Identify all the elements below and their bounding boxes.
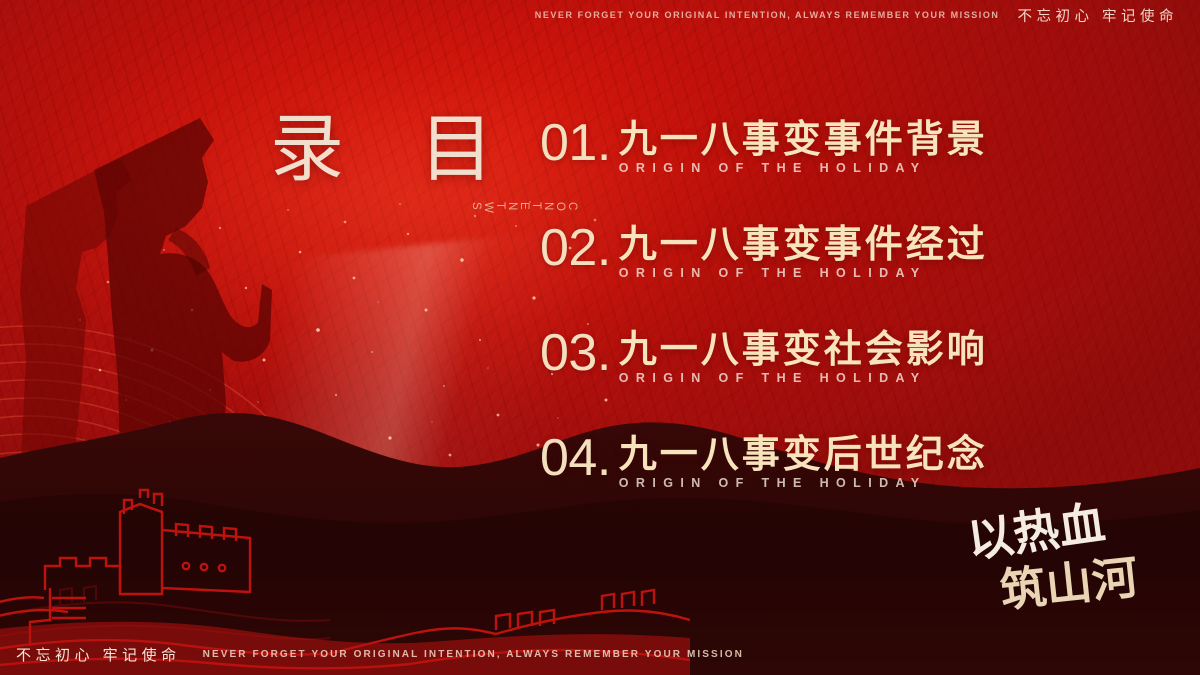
particle-spray-decoration [60, 190, 620, 520]
top-slogan-en: NEVER FORGET YOUR ORIGINAL INTENTION, AL… [535, 10, 1000, 20]
menu-item-label-cn: 九一八事变后世纪念 [619, 432, 988, 476]
menu-item-03[interactable]: 03. 九一八事变社会影响 ORIGIN OF THE HOLIDAY [540, 328, 1140, 433]
menu-item-label-cn: 九一八事变社会影响 [619, 327, 988, 371]
menu-item-number: 04. [540, 433, 611, 484]
menu-item-text: 九一八事变事件经过 ORIGIN OF THE HOLIDAY [619, 223, 988, 282]
menu-item-02[interactable]: 02. 九一八事变事件经过 ORIGIN OF THE HOLIDAY [540, 223, 1140, 328]
menu-item-label-en: ORIGIN OF THE HOLIDAY [619, 476, 927, 490]
menu-item-text: 九一八事变事件背景 ORIGIN OF THE HOLIDAY [619, 118, 988, 177]
calligraphy-seal: 以热血 筑山河 以热血筑山河 [962, 495, 1192, 620]
menu-item-label-cn: 九一八事变事件背景 [619, 117, 988, 161]
menu-item-number: 01. [540, 118, 611, 169]
menu-item-01[interactable]: 01. 九一八事变事件背景 ORIGIN OF THE HOLIDAY [540, 118, 1140, 223]
menu-item-number: 03. [540, 328, 611, 379]
page-title-cn: 录 目 [270, 112, 520, 186]
menu-item-text: 九一八事变社会影响 ORIGIN OF THE HOLIDAY [619, 328, 988, 387]
menu-item-label-cn: 九一八事变事件经过 [619, 222, 988, 266]
menu-item-label-en: ORIGIN OF THE HOLIDAY [619, 161, 927, 175]
top-slogan-cn: 不忘初心 牢记使命 [1017, 5, 1178, 26]
page-title: 录 目 C O N T E N T W S [270, 112, 520, 186]
slide-canvas: NEVER FORGET YOUR ORIGINAL INTENTION, AL… [0, 0, 1200, 675]
contents-menu: 01. 九一八事变事件背景 ORIGIN OF THE HOLIDAY 02. … [540, 118, 1140, 538]
menu-item-number: 02. [540, 223, 611, 274]
menu-item-label-en: ORIGIN OF THE HOLIDAY [619, 371, 927, 385]
footer-slogan-cn: 不忘初心 牢记使命 [16, 644, 181, 665]
footer-slogan-en: NEVER FORGET YOUR ORIGINAL INTENTION, AL… [203, 649, 744, 660]
menu-item-text: 九一八事变后世纪念 ORIGIN OF THE HOLIDAY [619, 433, 988, 492]
footer-slogan-bar: 不忘初心 牢记使命 NEVER FORGET YOUR ORIGINAL INT… [0, 633, 1200, 675]
menu-item-label-en: ORIGIN OF THE HOLIDAY [619, 266, 927, 280]
top-slogan-bar: NEVER FORGET YOUR ORIGINAL INTENTION, AL… [0, 0, 1200, 30]
